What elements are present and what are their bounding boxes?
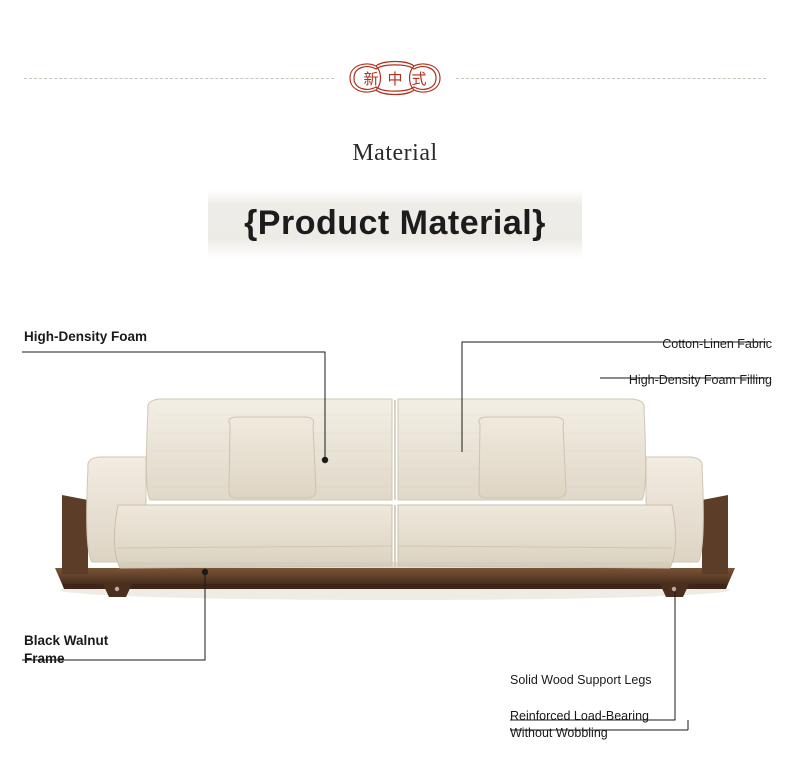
emblem-char-3: 式 <box>412 68 427 89</box>
callout-high-density-foam-filling: High-Density Foam Filling <box>629 372 772 389</box>
sofa-illustration <box>0 300 790 770</box>
callout-cotton-linen-fabric: Cotton-Linen Fabric <box>662 336 772 353</box>
emblem-char-1: 新 <box>363 68 378 89</box>
page-title-wrap: {Product Material} <box>0 190 790 259</box>
callout-high-density-foam: High-Density Foam <box>24 328 147 346</box>
page-title: {Product Material} <box>244 204 546 242</box>
emblem-characters: 新 中 式 <box>336 56 454 100</box>
chinese-style-emblem: 新 中 式 <box>336 56 454 100</box>
emblem-band: 新 中 式 <box>0 56 790 100</box>
callout-black-walnut-frame: Black Walnut Frame <box>24 632 108 668</box>
callout-solid-wood-support-legs: Solid Wood Support Legs <box>510 672 652 689</box>
page-title-band: {Product Material} <box>208 190 582 259</box>
dashed-rule-left <box>24 78 334 79</box>
emblem-char-2: 中 <box>387 68 402 89</box>
product-illustration-stage: High-Density Foam Cotton-Linen Fabric Hi… <box>0 300 790 770</box>
callout-reinforced-load-bearing: Reinforced Load-Bearing Without Wobbling <box>510 708 649 742</box>
section-subtitle: Material <box>0 140 790 167</box>
dashed-rule-right <box>456 78 766 79</box>
